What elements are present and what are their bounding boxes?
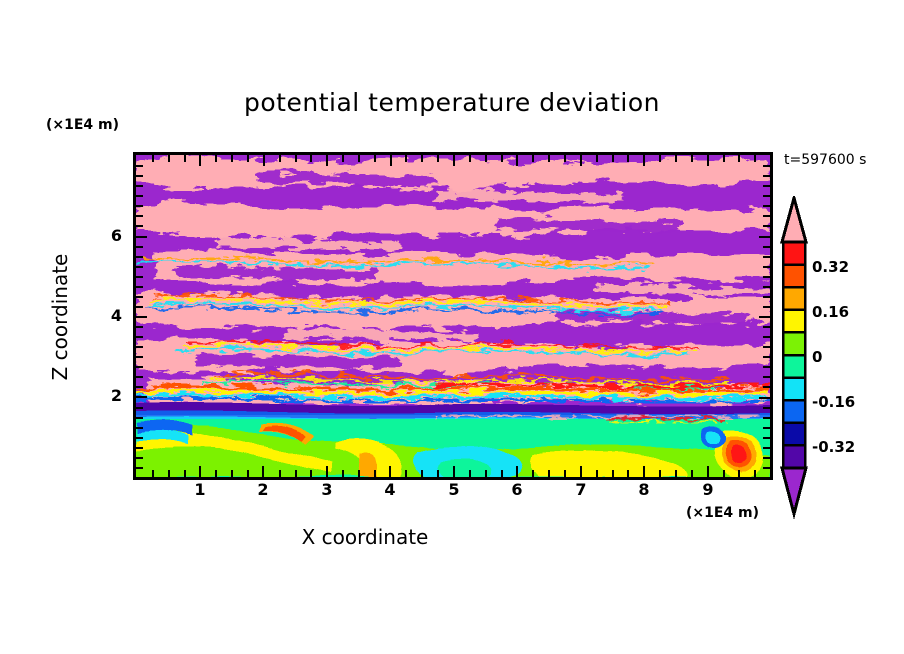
x-tick-major-top bbox=[707, 155, 709, 166]
x-tick-minor bbox=[501, 470, 503, 477]
colorbar-band bbox=[783, 242, 805, 265]
x-tick-major bbox=[262, 466, 264, 477]
x-tick-label: 3 bbox=[307, 480, 347, 499]
x-tick-minor bbox=[612, 470, 614, 477]
x-tick-minor bbox=[532, 470, 534, 477]
y-tick-minor bbox=[763, 407, 770, 409]
x-tick-minor bbox=[405, 155, 407, 162]
y-tick-minor bbox=[136, 356, 143, 358]
colorbar[interactable] bbox=[780, 196, 816, 530]
x-tick-minor bbox=[469, 155, 471, 162]
x-tick-minor bbox=[310, 155, 312, 162]
x-tick-major-top bbox=[643, 155, 645, 166]
x-tick-minor bbox=[564, 155, 566, 162]
timestamp-annotation: t=597600 s bbox=[784, 152, 866, 168]
x-tick-major-top bbox=[516, 155, 518, 166]
x-tick-minor bbox=[675, 155, 677, 162]
y-tick-minor bbox=[763, 437, 770, 439]
x-tick-minor bbox=[659, 470, 661, 477]
y-tick-minor bbox=[763, 175, 770, 177]
x-tick-minor bbox=[247, 155, 249, 162]
colorbar-tick-label: -0.32 bbox=[812, 438, 855, 456]
y-tick-minor bbox=[136, 457, 143, 459]
y-tick-minor bbox=[136, 386, 143, 388]
x-tick-minor bbox=[612, 155, 614, 162]
y-tick-minor bbox=[136, 175, 143, 177]
y-tick-minor bbox=[136, 447, 143, 449]
colorbar-band bbox=[783, 378, 805, 401]
x-tick-minor bbox=[358, 470, 360, 477]
x-tick-minor bbox=[548, 155, 550, 162]
x-tick-label: 4 bbox=[370, 480, 410, 499]
x-tick-minor bbox=[152, 470, 154, 477]
x-tick-label: 9 bbox=[688, 480, 728, 499]
y-tick-minor bbox=[763, 376, 770, 378]
x-tick-minor bbox=[421, 470, 423, 477]
x-tick-minor bbox=[374, 155, 376, 162]
x-tick-minor bbox=[485, 155, 487, 162]
y-tick-major bbox=[136, 396, 147, 398]
y-tick-minor bbox=[763, 205, 770, 207]
x-tick-minor bbox=[421, 155, 423, 162]
y-tick-minor bbox=[763, 366, 770, 368]
colorbar-band bbox=[783, 445, 805, 468]
x-tick-minor bbox=[215, 155, 217, 162]
y-tick-major bbox=[136, 316, 147, 318]
x-tick-minor bbox=[215, 470, 217, 477]
x-tick-label: 7 bbox=[561, 480, 601, 499]
y-tick-minor bbox=[136, 276, 143, 278]
y-tick-minor bbox=[763, 266, 770, 268]
x-tick-minor bbox=[564, 470, 566, 477]
x-tick-minor bbox=[485, 470, 487, 477]
y-tick-minor bbox=[763, 427, 770, 429]
x-tick-minor bbox=[754, 470, 756, 477]
y-tick-major-right bbox=[759, 236, 770, 238]
x-axis-units-label: (×1E4 m) bbox=[686, 505, 759, 521]
x-tick-minor bbox=[596, 155, 598, 162]
y-tick-major-right bbox=[759, 316, 770, 318]
y-tick-minor bbox=[136, 205, 143, 207]
y-tick-major-right bbox=[759, 397, 770, 399]
x-tick-label: 2 bbox=[243, 480, 283, 499]
x-tick-minor bbox=[247, 470, 249, 477]
x-tick-major-top bbox=[390, 155, 392, 166]
x-tick-minor bbox=[501, 155, 503, 162]
x-tick-minor bbox=[231, 470, 233, 477]
colorbar-band bbox=[783, 287, 805, 310]
x-tick-minor bbox=[738, 155, 740, 162]
y-tick-minor bbox=[763, 346, 770, 348]
y-tick-minor bbox=[763, 296, 770, 298]
x-tick-label: 1 bbox=[180, 480, 220, 499]
x-tick-minor bbox=[691, 155, 693, 162]
x-tick-minor bbox=[342, 155, 344, 162]
y-tick-minor bbox=[763, 457, 770, 459]
x-tick-minor bbox=[295, 470, 297, 477]
x-tick-major bbox=[707, 466, 709, 477]
x-tick-minor bbox=[437, 155, 439, 162]
x-tick-minor bbox=[548, 470, 550, 477]
y-tick-minor bbox=[136, 407, 143, 409]
colorbar-tick-label: 0.32 bbox=[812, 258, 849, 276]
x-tick-minor bbox=[596, 470, 598, 477]
x-tick-minor bbox=[723, 470, 725, 477]
x-tick-major bbox=[389, 466, 391, 477]
y-tick-minor bbox=[763, 447, 770, 449]
x-tick-minor bbox=[691, 470, 693, 477]
y-tick-minor bbox=[763, 256, 770, 258]
x-tick-label: 6 bbox=[497, 480, 537, 499]
x-tick-major-top bbox=[453, 155, 455, 166]
y-tick-minor bbox=[763, 215, 770, 217]
figure-canvas: potential temperature deviation (×1E4 m)… bbox=[0, 0, 904, 654]
x-tick-minor bbox=[231, 155, 233, 162]
y-tick-minor bbox=[763, 336, 770, 338]
y-tick-minor bbox=[763, 326, 770, 328]
y-tick-minor bbox=[136, 266, 143, 268]
y-tick-minor bbox=[763, 286, 770, 288]
x-tick-major bbox=[326, 466, 328, 477]
x-tick-major-top bbox=[199, 155, 201, 166]
page-title: potential temperature deviation bbox=[0, 88, 904, 117]
colorbar-band bbox=[783, 310, 805, 333]
y-tick-minor bbox=[763, 225, 770, 227]
y-axis-units-label: (×1E4 m) bbox=[46, 117, 119, 133]
y-tick-minor bbox=[136, 256, 143, 258]
y-tick-minor bbox=[763, 306, 770, 308]
y-tick-minor bbox=[136, 286, 143, 288]
x-tick-minor bbox=[675, 470, 677, 477]
x-tick-label: 5 bbox=[434, 480, 474, 499]
colorbar-band bbox=[783, 332, 805, 355]
y-tick-minor bbox=[136, 165, 143, 167]
x-axis-title: X coordinate bbox=[0, 525, 730, 549]
y-tick-minor bbox=[136, 225, 143, 227]
x-tick-minor bbox=[532, 155, 534, 162]
contour-plot-area[interactable] bbox=[136, 155, 770, 477]
x-tick-major bbox=[516, 466, 518, 477]
y-tick-minor bbox=[136, 346, 143, 348]
y-tick-minor bbox=[136, 195, 143, 197]
y-tick-minor bbox=[136, 215, 143, 217]
colorbar-over-arrow bbox=[782, 198, 806, 242]
colorbar-band bbox=[783, 423, 805, 446]
x-tick-minor bbox=[152, 155, 154, 162]
y-tick-minor bbox=[763, 467, 770, 469]
y-tick-minor bbox=[763, 276, 770, 278]
x-tick-minor bbox=[279, 470, 281, 477]
y-tick-minor bbox=[136, 417, 143, 419]
x-tick-label: 8 bbox=[624, 480, 664, 499]
y-tick-minor bbox=[763, 356, 770, 358]
x-tick-minor bbox=[627, 470, 629, 477]
y-tick-label: 4 bbox=[96, 306, 122, 325]
x-tick-minor bbox=[738, 470, 740, 477]
x-tick-major-top bbox=[326, 155, 328, 166]
y-tick-minor bbox=[136, 366, 143, 368]
y-tick-minor bbox=[136, 376, 143, 378]
colorbar-tick-label: 0 bbox=[812, 348, 822, 366]
x-tick-major bbox=[643, 466, 645, 477]
x-tick-minor bbox=[659, 155, 661, 162]
colorbar-tick-label: -0.16 bbox=[812, 393, 855, 411]
y-tick-minor bbox=[763, 417, 770, 419]
x-tick-minor bbox=[469, 470, 471, 477]
x-tick-major bbox=[199, 466, 201, 477]
y-tick-minor bbox=[136, 427, 143, 429]
y-tick-minor bbox=[136, 336, 143, 338]
x-tick-minor bbox=[310, 470, 312, 477]
y-tick-minor bbox=[136, 185, 143, 187]
y-tick-minor bbox=[136, 437, 143, 439]
x-tick-minor bbox=[723, 155, 725, 162]
y-tick-minor bbox=[136, 296, 143, 298]
x-tick-major-top bbox=[263, 155, 265, 166]
colorbar-band bbox=[783, 265, 805, 288]
x-tick-minor bbox=[184, 470, 186, 477]
y-tick-minor bbox=[136, 306, 143, 308]
x-tick-minor bbox=[168, 470, 170, 477]
y-tick-label: 6 bbox=[96, 226, 122, 245]
y-tick-minor bbox=[763, 165, 770, 167]
x-tick-minor bbox=[374, 470, 376, 477]
x-tick-minor bbox=[358, 155, 360, 162]
colorbar-band bbox=[783, 400, 805, 423]
x-tick-minor bbox=[405, 470, 407, 477]
y-tick-minor bbox=[136, 246, 143, 248]
y-tick-minor bbox=[763, 246, 770, 248]
x-tick-minor bbox=[295, 155, 297, 162]
x-tick-minor bbox=[342, 470, 344, 477]
x-tick-major bbox=[580, 466, 582, 477]
y-tick-minor bbox=[763, 185, 770, 187]
y-axis-title: Z coordinate bbox=[48, 217, 72, 417]
y-tick-label: 2 bbox=[96, 386, 122, 405]
x-tick-minor bbox=[437, 470, 439, 477]
x-tick-minor bbox=[754, 155, 756, 162]
y-tick-minor bbox=[763, 386, 770, 388]
y-tick-minor bbox=[136, 467, 143, 469]
colorbar-tick-label: 0.16 bbox=[812, 303, 849, 321]
y-tick-major bbox=[136, 236, 147, 238]
colorbar-band bbox=[783, 355, 805, 378]
x-tick-minor bbox=[627, 155, 629, 162]
x-tick-major bbox=[453, 466, 455, 477]
y-tick-minor bbox=[136, 326, 143, 328]
colorbar-under-arrow bbox=[782, 468, 806, 514]
x-tick-minor bbox=[168, 155, 170, 162]
y-tick-minor bbox=[763, 195, 770, 197]
x-tick-major-top bbox=[580, 155, 582, 166]
x-tick-minor bbox=[279, 155, 281, 162]
x-tick-minor bbox=[184, 155, 186, 162]
